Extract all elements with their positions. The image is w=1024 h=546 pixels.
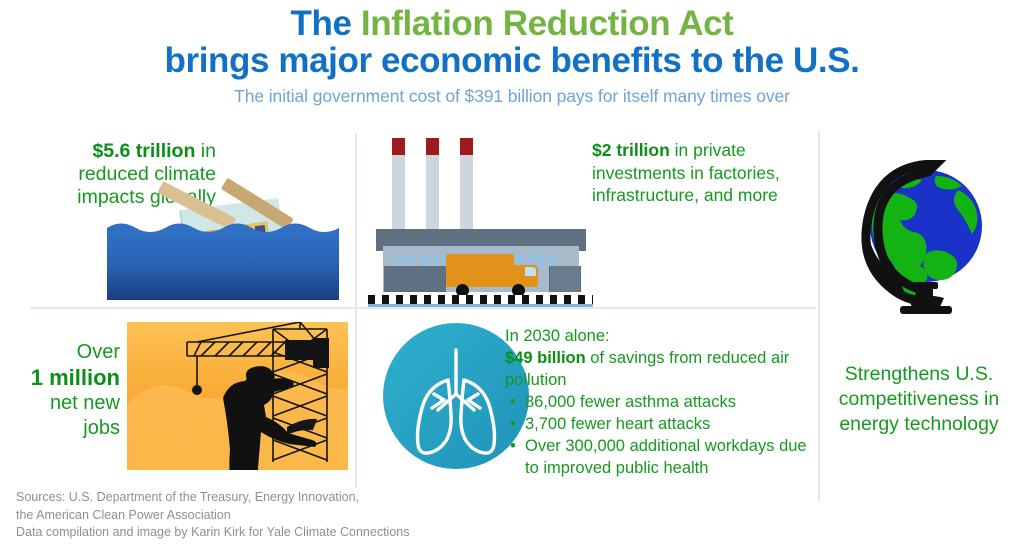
jobs-desc-text: net new jobs bbox=[50, 392, 120, 439]
jobs-stat-desc: net new jobs bbox=[8, 391, 120, 441]
list-item: 3,700 fewer heart attacks bbox=[522, 413, 815, 435]
page-title-line1: The Inflation Reduction Act bbox=[0, 6, 1024, 42]
factory-road-edge bbox=[368, 304, 593, 307]
title-act-name: Inflation Reduction Act bbox=[361, 4, 734, 43]
factory-road bbox=[368, 295, 593, 304]
divider-horizontal bbox=[30, 307, 816, 309]
divider-vertical-right bbox=[818, 131, 820, 501]
crane-scene-svg bbox=[127, 322, 348, 470]
sources-line-2: the American Clean Power Association bbox=[16, 507, 616, 525]
flood-water bbox=[107, 232, 339, 300]
truck-trailer bbox=[446, 254, 514, 287]
sources-line-1: Sources: U.S. Department of the Treasury… bbox=[16, 489, 616, 507]
jobs-stat-text: Over 1 million net new jobs bbox=[8, 340, 120, 441]
factory-loading-dock-right bbox=[549, 266, 581, 292]
jobs-stat-value: 1 million bbox=[8, 365, 120, 391]
header: The Inflation Reduction Act brings major… bbox=[0, 0, 1024, 107]
page-subtitle: The initial government cost of $391 bill… bbox=[0, 85, 1024, 107]
factory-loading-dock-left bbox=[384, 266, 446, 292]
title-the: The bbox=[291, 4, 361, 43]
globe-on-stand-illustration bbox=[840, 160, 1005, 315]
page-title-line2: brings major economic benefits to the U.… bbox=[0, 42, 1024, 80]
factory-stat-text: $2 trillion in private investments in fa… bbox=[592, 139, 807, 207]
list-item: Over 300,000 additional workdays due to … bbox=[522, 435, 815, 479]
list-item: 86,000 fewer asthma attacks bbox=[522, 391, 815, 413]
globe-caption: Strengthens U.S. competitiveness in ener… bbox=[824, 362, 1014, 437]
health-stat-value: $49 billion bbox=[505, 349, 586, 367]
health-stat-line: $49 billion of savings from reduced air … bbox=[505, 347, 815, 391]
globe-svg bbox=[840, 160, 1005, 315]
construction-worker-crane-illustration bbox=[127, 322, 348, 470]
water-wave-icon bbox=[107, 221, 339, 235]
factory-stat-value: $2 trillion bbox=[592, 140, 670, 160]
factory-with-truck-illustration bbox=[368, 138, 593, 304]
infographic-canvas: The Inflation Reduction Act brings major… bbox=[0, 0, 1024, 546]
health-lead: In 2030 alone: bbox=[505, 325, 815, 347]
health-stat-text: In 2030 alone: $49 billion of savings fr… bbox=[505, 325, 815, 479]
divider-vertical-left bbox=[355, 133, 357, 488]
health-bullet-list: 86,000 fewer asthma attacks 3,700 fewer … bbox=[505, 391, 815, 479]
flooded-house-illustration bbox=[107, 150, 339, 300]
sources-line-3: Data compilation and image by Karin Kirk… bbox=[16, 524, 616, 542]
sources-footer: Sources: U.S. Department of the Treasury… bbox=[16, 489, 616, 542]
jobs-lead: Over bbox=[8, 340, 120, 365]
